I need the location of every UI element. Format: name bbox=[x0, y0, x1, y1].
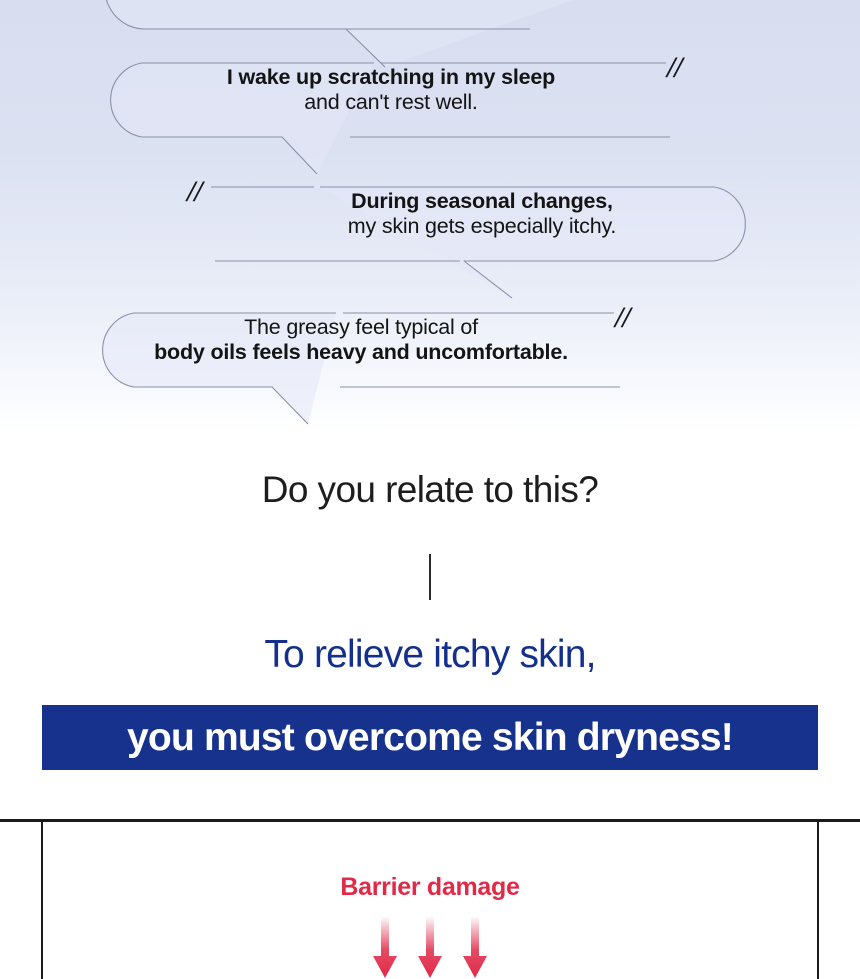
testimonial-bubble-scratching: I wake up scratching in my sleep and can… bbox=[104, 62, 678, 138]
quote-mark-icon-4: // bbox=[615, 303, 630, 333]
bubble-4-line-1: The greasy feel typical of bbox=[96, 315, 626, 340]
bubble-4-line-2: body oils feels heavy and uncomfortable. bbox=[96, 340, 626, 365]
arrow-down-icon bbox=[417, 916, 443, 979]
bubble-2-line-1: I wake up scratching in my sleep bbox=[104, 65, 678, 90]
relate-question: Do you relate to this? bbox=[0, 469, 860, 511]
vertical-divider bbox=[429, 554, 431, 600]
barrier-damage-label: Barrier damage bbox=[0, 873, 860, 902]
panel-top-rule bbox=[0, 819, 860, 822]
bubble-3-line-2: my skin gets especially itchy. bbox=[212, 214, 752, 239]
headline-banner: you must overcome skin dryness! bbox=[42, 705, 818, 770]
barrier-arrows-group bbox=[0, 916, 860, 979]
arrow-down-icon bbox=[462, 916, 488, 979]
quote-mark-icon-2: // bbox=[667, 53, 682, 83]
headline-line-2: you must overcome skin dryness! bbox=[127, 718, 733, 757]
testimonial-bubble-greasy: The greasy feel typical of body oils fee… bbox=[96, 312, 626, 388]
bubble-outline-1 bbox=[100, 0, 760, 30]
bubble-3-line-1: During seasonal changes, bbox=[212, 189, 752, 214]
bubble-2-line-2: and can't rest well. bbox=[104, 90, 678, 115]
page-canvas: product I apply, my skin stays dry. I wa… bbox=[0, 0, 860, 979]
testimonial-bubble-dry-skin: product I apply, my skin stays dry. bbox=[100, 0, 760, 30]
quote-mark-icon-3: // bbox=[187, 177, 202, 207]
testimonial-bubble-seasonal: During seasonal changes, my skin gets es… bbox=[212, 186, 752, 262]
headline-line-1: To relieve itchy skin, bbox=[0, 633, 860, 677]
arrow-down-icon bbox=[372, 916, 398, 979]
